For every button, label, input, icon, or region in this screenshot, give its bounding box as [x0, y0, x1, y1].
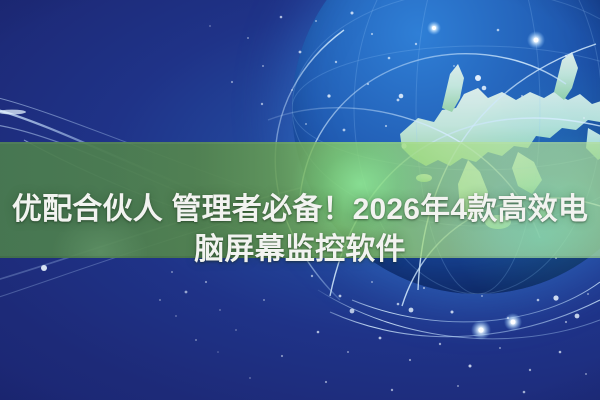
banner-image: 优配合伙人 管理者必备！2026年4款高效电脑屏幕监控软件 — [0, 0, 600, 400]
banner-title: 优配合伙人 管理者必备！2026年4款高效电脑屏幕监控软件 — [0, 150, 600, 270]
banner-title-text: 优配合伙人 管理者必备！2026年4款高效电脑屏幕监控软件 — [12, 193, 588, 266]
